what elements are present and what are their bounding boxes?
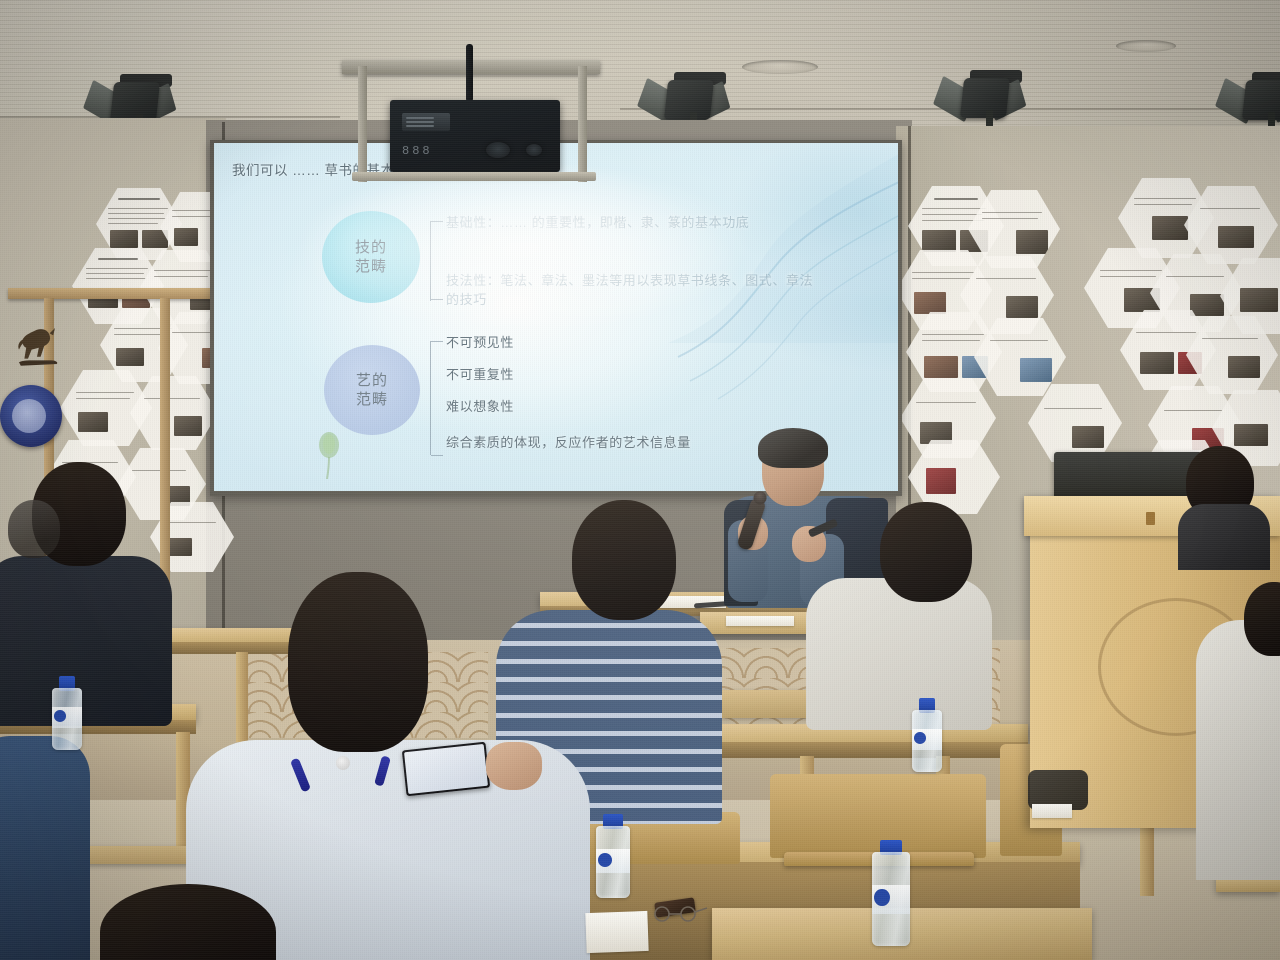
slide-branch-technique [430, 221, 431, 301]
blue-ceramic-disc [0, 385, 62, 447]
attendee-head-striped [572, 500, 676, 620]
water-bottle[interactable] [912, 698, 942, 772]
projector-lower-rail [352, 172, 596, 181]
projector-cable [466, 44, 473, 102]
slide-item-technique-2: 技法性：笔法、章法、墨法等用以表现草书线条、图式、章法的技巧 [446, 271, 814, 309]
bench-center [720, 690, 812, 718]
eyeglasses-icon [650, 905, 708, 923]
ceiling-vent-icon [742, 60, 818, 74]
lectern-knob [1146, 512, 1155, 525]
attendee-torso [0, 556, 172, 726]
slide-item-art-3: 难以想象性 [446, 397, 514, 416]
wall-corner-edge [908, 126, 911, 556]
slide-branch-art [430, 341, 431, 455]
documents-on-desk [726, 616, 794, 626]
slide-bubble-art: 艺的 范畴 [324, 345, 420, 435]
ceiling-vent-icon [1116, 40, 1176, 52]
attendee-torso-right-edge [1196, 620, 1280, 880]
ceiling [0, 0, 1280, 132]
wooden-shelf [8, 288, 216, 299]
attendee-head-behind [8, 500, 60, 558]
water-bottle[interactable] [596, 814, 630, 898]
bubble-label-line2: 范畴 [356, 391, 388, 408]
projector-lens-icon [526, 144, 542, 156]
power-strip [1032, 804, 1072, 818]
attendee-head-white-tee [880, 502, 972, 602]
podium-monitor [1054, 452, 1202, 500]
slide-item-technique-1: 基础性：…… 的重要性，即楷、隶、篆的基本功底 [446, 213, 806, 232]
attendee-head-lanyard [288, 572, 428, 752]
projector-vent-icon [402, 113, 450, 131]
lotus-bud-icon [316, 431, 342, 479]
bubble-label-line2: 范畴 [355, 258, 387, 275]
slide-item-art-4: 综合素质的体现，反应作者的艺术信息量 [446, 433, 691, 452]
shelf-post [160, 298, 170, 598]
slide-item-art-1: 不可预见性 [446, 333, 514, 352]
ceiling-projector: 888 [390, 100, 560, 172]
projector-mount-arm [578, 66, 587, 182]
lecture-hall-photo: 我们可以 …… 草书的基本性质和规律进行剖析。 技的 范畴 基础性：…… 的重要… [0, 0, 1280, 960]
water-bottle[interactable] [52, 676, 82, 750]
bubble-label-line1: 艺的 [356, 372, 388, 389]
projector-led-display: 888 [402, 144, 433, 158]
water-bottle[interactable] [872, 840, 910, 946]
attendee-hand-lanyard [486, 742, 542, 790]
projector-mount-arm [358, 66, 367, 182]
documents-on-desk [585, 911, 648, 953]
slide-bubble-technique: 技的 范畴 [322, 211, 420, 303]
table-leg [236, 652, 248, 742]
table-edge [692, 742, 1028, 758]
attendee-torso-behind-podium [1178, 504, 1270, 570]
bubble-label-line1: 技的 [355, 239, 387, 256]
slide-item-art-2: 不可重复性 [446, 365, 514, 384]
attendee-torso-front-left [0, 736, 90, 960]
speaker-hair [758, 428, 828, 468]
lanyard-badge-clip [336, 756, 350, 770]
tablet-device[interactable] [402, 742, 490, 797]
horse-figurine-icon [10, 320, 64, 372]
attendee-torso-white-tee [806, 578, 992, 730]
projector-lens-icon [486, 142, 510, 158]
